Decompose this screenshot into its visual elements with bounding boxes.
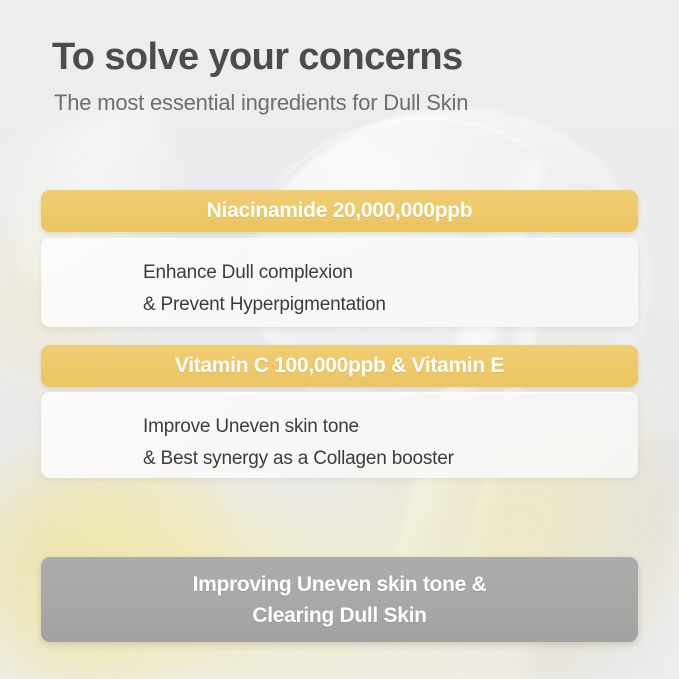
ingredient-headline-bar-1: Niacinamide 20,000,000ppb xyxy=(41,190,638,232)
ingredient-headline-text-1: Niacinamide 20,000,000ppb xyxy=(207,199,473,223)
summary-line-1: Improving Uneven skin tone & xyxy=(193,569,487,600)
ingredient-benefit-line-2b: & Best synergy as a Collagen booster xyxy=(143,443,638,475)
ingredient-benefit-line-1a: Enhance Dull complexion xyxy=(143,257,638,289)
ingredient-headline-bar-2: Vitamin C 100,000ppb & Vitamin E xyxy=(41,345,638,387)
header-block: To solve your concerns The most essentia… xyxy=(52,34,632,117)
ingredient-benefit-line-2a: Improve Uneven skin tone xyxy=(143,411,638,443)
summary-line-2: Clearing Dull Skin xyxy=(252,600,426,631)
page-title: To solve your concerns xyxy=(52,34,632,80)
ingredient-infographic: To solve your concerns The most essentia… xyxy=(0,0,679,679)
ingredient-benefit-panel-1: Enhance Dull complexion & Prevent Hyperp… xyxy=(41,238,638,327)
ingredient-headline-text-2: Vitamin C 100,000ppb & Vitamin E xyxy=(175,354,504,378)
page-subtitle: The most essential ingredients for Dull … xyxy=(54,89,632,117)
ingredient-benefit-panel-2: Improve Uneven skin tone & Best synergy … xyxy=(41,392,638,478)
summary-bar: Improving Uneven skin tone & Clearing Du… xyxy=(41,557,638,642)
ingredient-benefit-line-1b: & Prevent Hyperpigmentation xyxy=(143,289,638,321)
